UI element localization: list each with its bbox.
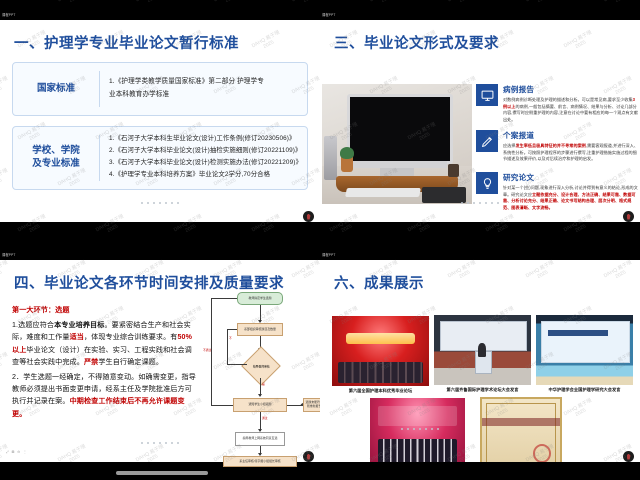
flow-node-7: 系主任审核/签字报小组组长审核 — [223, 456, 297, 467]
flow-node-1: 教师拟定学生选题 — [237, 292, 283, 305]
slide-thumbnail-1[interactable]: 一、护理学专业毕业论文暂行标准 国家标准 1.《护理学类教学质量国家标准》第二部… — [0, 20, 320, 222]
standards-line: 4.《护理学专业本科培养方案》毕业论文2学分,70分合格 — [109, 170, 299, 180]
slide-viewer: 一、护理学专业毕业论文暂行标准 国家标准 1.《护理学类教学质量国家标准》第二部… — [0, 0, 640, 480]
slide-6-title: 六、成果展示 — [334, 272, 424, 293]
award-ceremony-photo — [332, 316, 429, 386]
feature-heading: 病例报告 — [503, 84, 638, 95]
slide-3-title: 三、毕业论文形式及要求 — [334, 32, 499, 53]
standards-line: 1.《石河子大学本科生毕业论文(设计)工作条例(修订20230506)》 — [109, 134, 299, 144]
slide-progress-dots — [0, 194, 320, 212]
standards-card-national: 国家标准 1.《护理学类教学质量国家标准》第二部分 护理学专 业本科教育办学标准 — [12, 62, 308, 116]
slide-grid: 一、护理学专业毕业论文暂行标准 国家标准 1.《护理学类教学质量国家标准》第二部… — [0, 0, 640, 480]
gallery-item[interactable]: 中华护理学会全国护理学研究大会发言 — [536, 315, 633, 393]
slide-4-body: 第一大环节：选题 1.选题应符合本专业培养目标。要紧密结合生产和社会实际，难度和… — [12, 304, 198, 423]
flow-node-6: 指导教师上网系统同意互选 — [235, 432, 285, 446]
feature-text: 对数例病例诊断处理及护理的描述和分析。可以是常见病,要求至少收集3例以上的病例,… — [503, 97, 638, 124]
gallery-caption: 第六届齐鲁国际护理学术论坛大会发言 — [434, 387, 531, 393]
gallery-item[interactable]: 第六届全国护理本科优秀毕业论坛 — [332, 316, 429, 394]
feature-case-report: 病例报告 对数例病例诊断处理及护理的描述和分析。可以是常见病,要求至少收集3例以… — [476, 84, 638, 124]
slide-thumbnail-6[interactable]: 六、成果展示 第六届全国护理本科优秀毕业论坛 第六届齐鲁国际护理学术论坛大会发言… — [320, 260, 640, 462]
pen-icon — [476, 130, 498, 152]
research-presentation-photo — [536, 315, 633, 385]
standards-label-school: 学校、学院 及专业标准 — [13, 145, 99, 171]
standards-body-national: 1.《护理学类教学质量国家标准》第二部分 护理学专 业本科教育办学标准 — [100, 72, 307, 106]
standards-line: 1.《护理学类教学质量国家标准》第二部分 护理学专 — [109, 76, 299, 87]
conference-speaker-photo — [434, 315, 531, 385]
standards-body-school: 1.《石河子大学本科生毕业论文(设计)工作条例(修订20230506)》 2.《… — [100, 130, 307, 186]
corner-logo-badge — [623, 211, 634, 222]
flow-edge-label-fail: 不通过 — [203, 348, 211, 352]
bulb-icon — [476, 172, 498, 194]
feature-text: 应选择发生率低且极具特征的并不寻常的案例,需要客观报道,并进行深入、系统性分析。… — [503, 143, 638, 163]
slide-thumbnail-3[interactable]: 三、毕业论文形式及要求 病例报 — [320, 20, 640, 222]
standards-line: 3.《石河子大学本科毕业论文(设计)检测实施办法(修订20221209)》 — [109, 158, 299, 168]
standards-card-school: 学校、学院 及专业标准 1.《石河子大学本科生毕业论文(设计)工作条例(修订20… — [12, 126, 308, 190]
section-lead: 第一大环节：选题 — [12, 304, 198, 316]
corner-logo-badge — [303, 211, 314, 222]
standards-label-national: 国家标准 — [13, 83, 99, 96]
flow-edge-label-pass: 通过 — [262, 416, 268, 420]
slide-progress-dots — [320, 194, 640, 212]
corner-logo-badge — [623, 451, 634, 462]
gallery-item[interactable]: 第六届齐鲁国际护理学术论坛大会发言 — [434, 315, 531, 393]
chrome-label: 课程PPT — [2, 252, 16, 257]
desk-photo — [322, 84, 472, 204]
gallery-caption: 中华护理学会全国护理学研究大会发言 — [536, 387, 633, 393]
flow-node-2: 系部组织审核题目及数量 — [237, 323, 283, 336]
chrome-label: 课程PPT — [322, 252, 336, 257]
corner-logo-badge — [303, 451, 314, 462]
feature-case-story: 个案报道 应选择发生率低且极具特征的并不寻常的案例,需要客观报道,并进行深入、系… — [476, 130, 638, 163]
flow-edge-label-no: 不 — [229, 336, 232, 340]
paragraph-1: 1.选题应符合本专业培养目标。要紧密结合生产和社会实际，难度和工作量适当，体现专… — [12, 319, 198, 368]
monitor-icon — [476, 84, 498, 106]
horizontal-scrollbar[interactable] — [116, 471, 208, 475]
flow-node-4: 通知学生小组领题 — [233, 398, 287, 412]
mini-toolbar[interactable]: ⤢ ⊞ ⊙ ⋮ — [6, 450, 28, 476]
standards-line: 2.《石河子大学本科毕业论文(设计)抽检实施细则(修订20221109)》 — [109, 146, 299, 156]
flow-node-3-decision: 指导教师审核 — [241, 346, 281, 386]
thesis-topic-flowchart: 教师拟定学生选题 系部组织审核题目及数量 指导教师审核 是 通知学生小组领题 选… — [203, 292, 331, 460]
chrome-label: 课程PPT — [2, 12, 16, 17]
chrome-label: 课程PPT — [322, 12, 336, 17]
feature-heading: 个案报道 — [503, 130, 638, 141]
slide-4-title: 四、毕业论文各环节时间安排及质量要求 — [14, 272, 284, 293]
slide-1-title: 一、护理学专业毕业论文暂行标准 — [14, 32, 239, 53]
gallery-caption: 第六届全国护理本科优秀毕业论坛 — [332, 388, 429, 394]
standards-line: 业本科教育办学标准 — [109, 89, 299, 100]
slide-progress-dots — [320, 420, 640, 438]
flow-edge-label-yes: 是 — [262, 382, 265, 386]
paragraph-2: 2．学生选题一经确定，不得随意变动。如确需变更，指导教师必须提出书面变更申请，经… — [12, 371, 198, 420]
feature-heading: 研究论文 — [503, 172, 638, 183]
